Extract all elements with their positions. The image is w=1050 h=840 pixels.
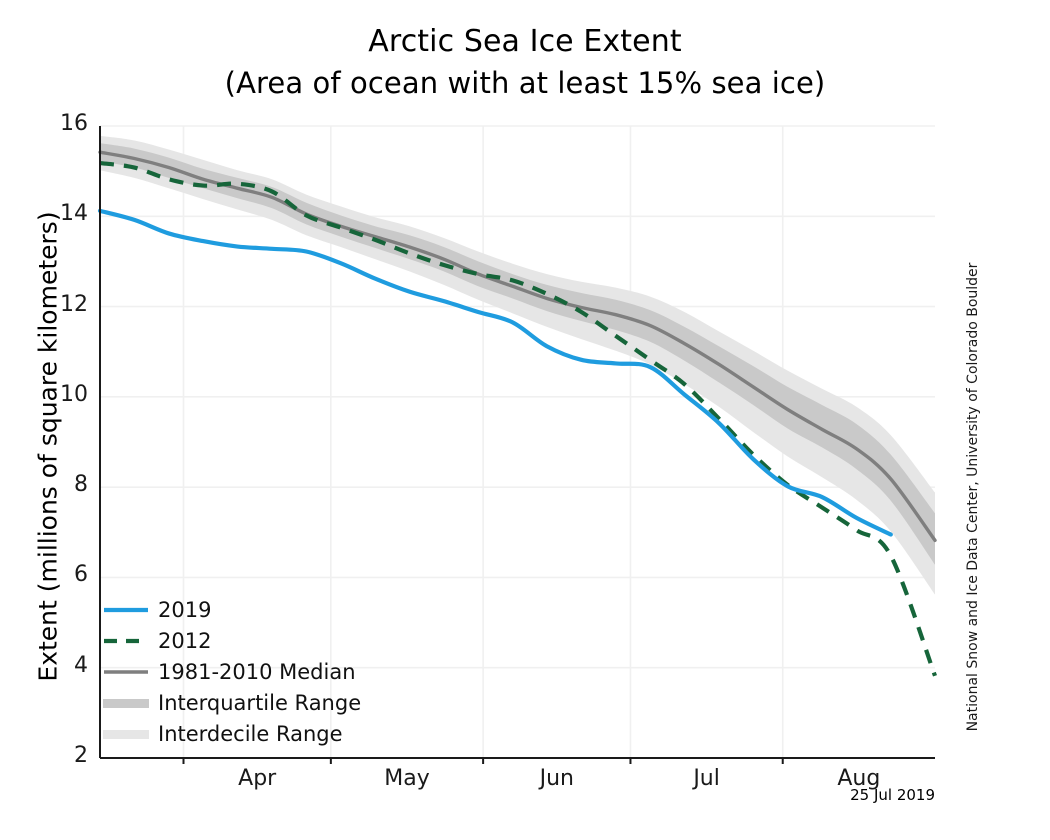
legend-item-2019[interactable]: 2019 — [103, 594, 403, 625]
y-axis-label: Extent (millions of square kilometers) — [34, 167, 63, 727]
chart-legend: 201920121981-2010 MedianInterquartile Ra… — [103, 594, 403, 749]
y-tick-label: 2 — [36, 743, 88, 768]
legend-swatch-icon — [103, 725, 149, 743]
legend-label: 2012 — [158, 629, 211, 653]
x-tick-label-jun: Jun — [497, 766, 617, 791]
chart-figure: Arctic Sea Ice Extent (Area of ocean wit… — [0, 0, 1050, 840]
legend-label: 2019 — [158, 598, 211, 622]
y-tick-label: 4 — [36, 653, 88, 678]
legend-item-interquartile-range[interactable]: Interquartile Range — [103, 687, 403, 718]
x-tick-label-aug: Aug — [799, 766, 919, 791]
y-tick-label: 6 — [36, 562, 88, 587]
legend-item-2012[interactable]: 2012 — [103, 625, 403, 656]
credit-label: National Snow and Ice Data Center, Unive… — [965, 237, 981, 757]
y-tick-label: 14 — [36, 201, 88, 226]
legend-label: Interdecile Range — [158, 722, 343, 746]
y-tick-label: 16 — [36, 111, 88, 136]
x-tick-label-may: May — [347, 766, 467, 791]
x-tick-label-apr: Apr — [197, 766, 317, 791]
y-tick-label: 12 — [36, 292, 88, 317]
legend-swatch-icon — [103, 601, 149, 619]
legend-item-interdecile-range[interactable]: Interdecile Range — [103, 718, 403, 749]
legend-label: Interquartile Range — [158, 691, 361, 715]
x-tick-label-jul: Jul — [647, 766, 767, 791]
legend-item-1981-2010-median[interactable]: 1981-2010 Median — [103, 656, 403, 687]
y-tick-label: 10 — [36, 382, 88, 407]
legend-swatch-icon — [103, 694, 149, 712]
legend-swatch-icon — [103, 663, 149, 681]
y-tick-label: 8 — [36, 472, 88, 497]
legend-label: 1981-2010 Median — [158, 660, 356, 684]
legend-swatch-icon — [103, 632, 149, 650]
